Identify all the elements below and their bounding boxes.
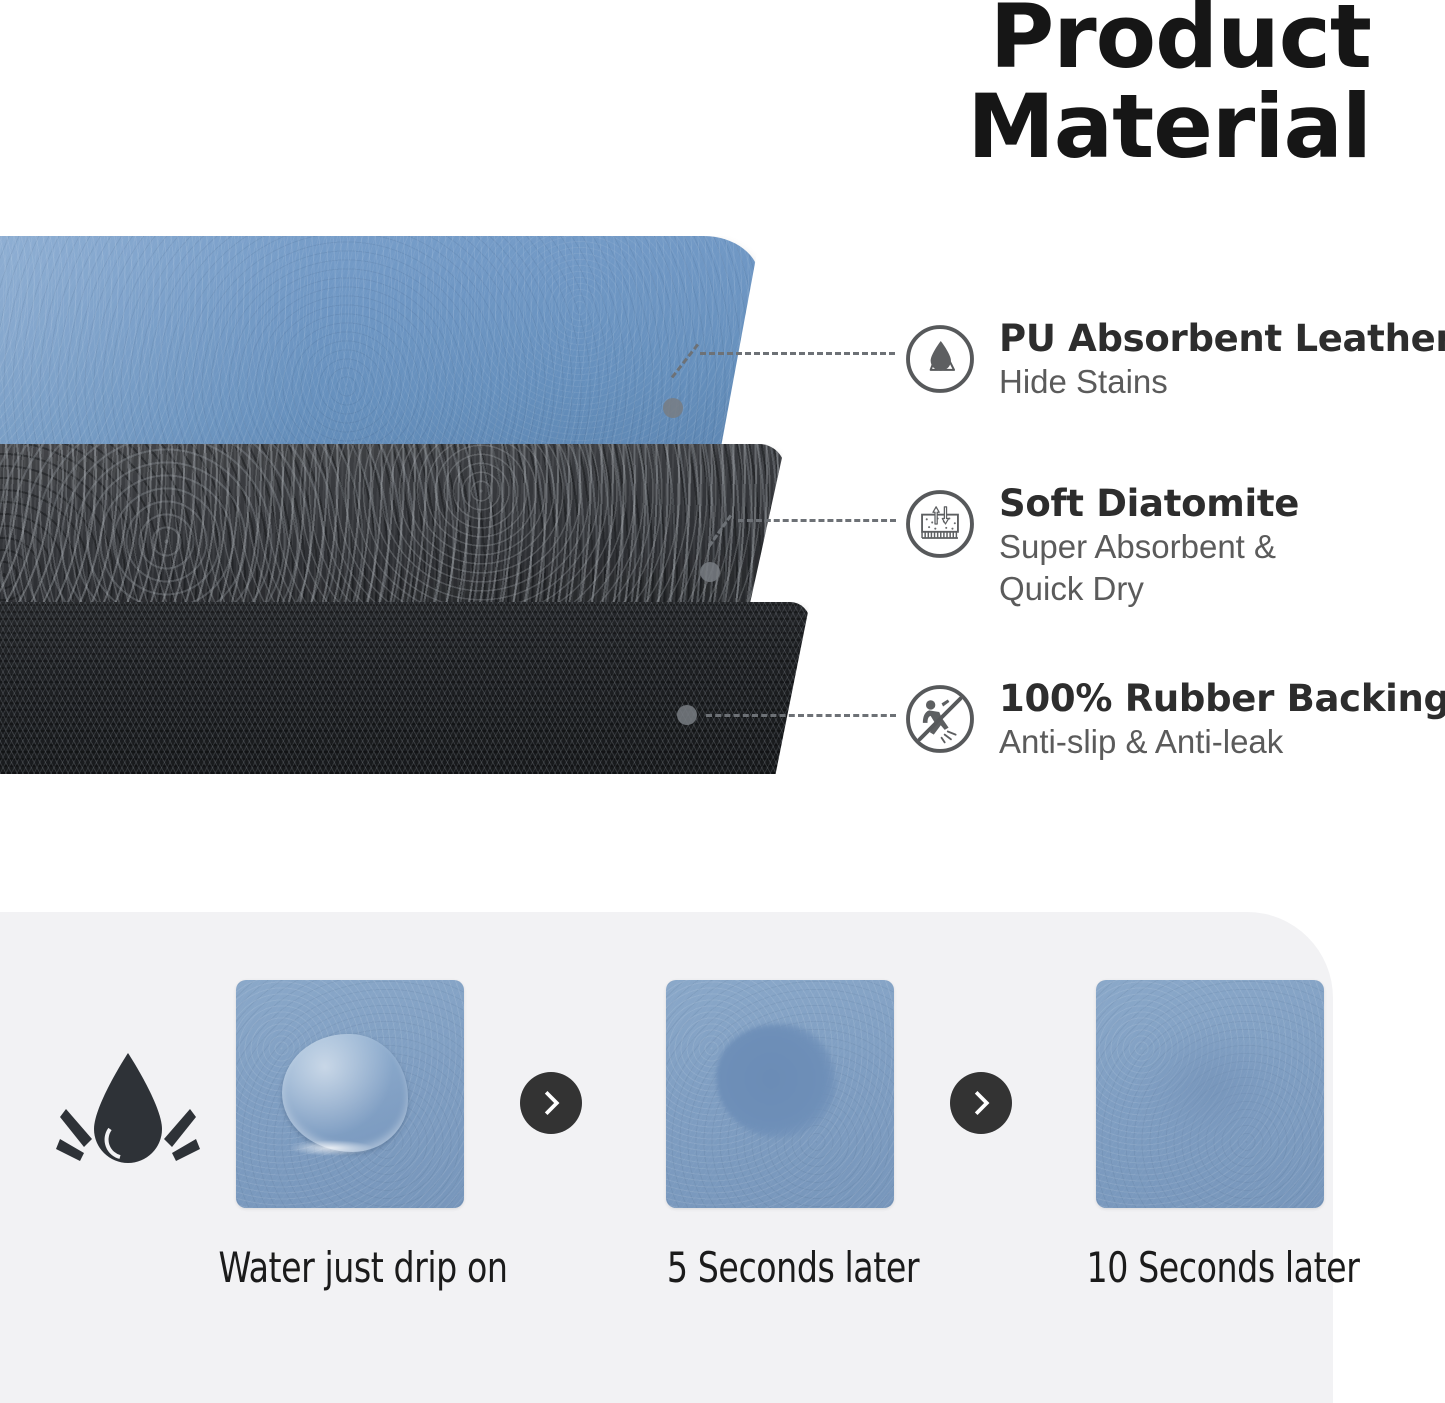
- feature-title: Soft Diatomite: [999, 483, 1299, 524]
- feature-subtitle: Hide Stains: [999, 361, 1445, 403]
- page-title: Product Material: [731, 0, 1371, 172]
- chevron-right-icon-2: [950, 1072, 1012, 1134]
- feature-subtitle: Anti-slip & Anti-leak: [999, 721, 1445, 763]
- demo-caption-step-2: 5 Seconds later: [604, 1243, 982, 1292]
- feature-title: 100% Rubber Backing: [999, 678, 1445, 719]
- water-drop-splash-icon: [48, 1047, 208, 1182]
- no-slip-person-icon: [901, 680, 979, 758]
- demo-caption-step-1: Water just drip on: [174, 1243, 552, 1292]
- demo-swatch-step-3: [1096, 980, 1324, 1208]
- callout-line-diatomite: [738, 519, 896, 522]
- mat-layer-rubber: [0, 602, 810, 774]
- porous-absorb-evaporate-icon: [901, 485, 979, 563]
- feature-rubber-backing: 100% Rubber Backing Anti-slip & Anti-lea…: [901, 676, 1445, 763]
- absorbency-demo-row: [0, 912, 1333, 1403]
- feature-title: PU Absorbent Leather: [999, 318, 1445, 359]
- absorbency-demo-panel: [0, 912, 1333, 1403]
- feature-text-block: Soft Diatomite Super Absorbent & Quick D…: [999, 481, 1299, 610]
- mat-layer-pu-leather: [0, 236, 760, 454]
- feature-soft-diatomite: Soft Diatomite Super Absorbent & Quick D…: [901, 481, 1299, 610]
- rubber-weave-texture: [0, 602, 810, 774]
- mat-layer-diatomite: [0, 444, 785, 612]
- callout-dot-pu: [663, 398, 683, 418]
- mat-layer-stack-illustration: [0, 236, 810, 766]
- callout-dot-diatomite: [700, 562, 720, 582]
- demo-caption-step-3: 10 Seconds later: [1034, 1243, 1412, 1292]
- product-material-infographic: Product Material PU Absorbent: [0, 0, 1445, 1403]
- demo-swatch-step-1: [236, 980, 464, 1208]
- diatomite-porous-texture: [0, 444, 785, 612]
- water-drop-on-surface-icon: [901, 320, 979, 398]
- pu-leather-grain-texture: [0, 236, 760, 454]
- chevron-right-icon-1: [520, 1072, 582, 1134]
- callout-dot-rubber: [677, 705, 697, 725]
- water-stain-faint: [1148, 1032, 1272, 1144]
- demo-swatch-step-2: [666, 980, 894, 1208]
- feature-subtitle: Super Absorbent & Quick Dry: [999, 526, 1299, 609]
- callout-line-rubber: [706, 714, 896, 717]
- feature-text-block: 100% Rubber Backing Anti-slip & Anti-lea…: [999, 676, 1445, 763]
- feature-pu-absorbent-leather: PU Absorbent Leather Hide Stains: [901, 316, 1445, 403]
- feature-text-block: PU Absorbent Leather Hide Stains: [999, 316, 1445, 403]
- callout-line-pu: [700, 352, 895, 355]
